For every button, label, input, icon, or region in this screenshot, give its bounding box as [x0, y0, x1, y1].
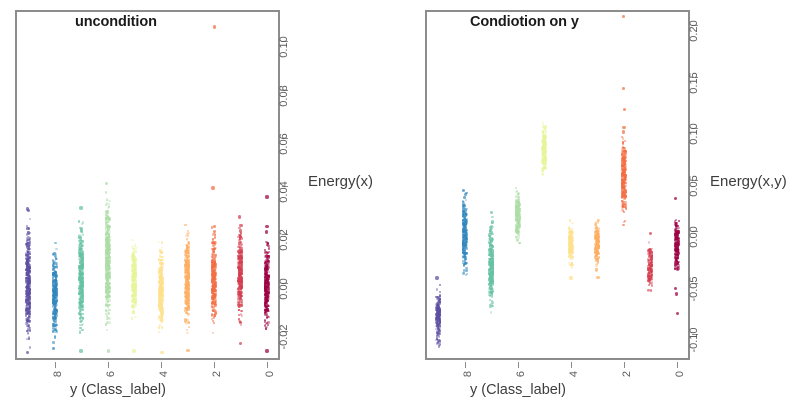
scatter-point	[161, 326, 163, 328]
scatter-point	[135, 276, 137, 278]
scatter-point	[464, 262, 466, 264]
scatter-point	[188, 255, 190, 257]
x-tick-mark	[624, 362, 625, 368]
scatter-point	[108, 290, 110, 292]
scatter-point	[55, 308, 57, 310]
scatter-point	[436, 309, 438, 311]
scatter-point	[29, 237, 31, 239]
x-axis-condition-on-y: 86420	[400, 362, 800, 402]
scatter-point	[134, 316, 136, 318]
scatter-point	[267, 245, 269, 247]
plot-area-condition-on-y[interactable]	[425, 10, 690, 360]
scatter-point	[108, 200, 110, 202]
scatter-point	[241, 247, 243, 249]
scatter-point	[187, 313, 189, 315]
scatter-point	[27, 251, 29, 253]
x-tick-mark	[214, 362, 215, 368]
scatter-point	[78, 235, 80, 237]
x-tick-mark	[55, 362, 56, 368]
scatter-point	[187, 288, 189, 290]
scatter-point	[52, 341, 54, 343]
scatter-point	[108, 205, 110, 207]
scatter-point	[160, 285, 162, 287]
scatter-point	[81, 329, 83, 331]
scatter-point	[134, 258, 136, 260]
scatter-point	[516, 228, 518, 230]
scatter-point	[81, 242, 83, 244]
scatter-outlier-point	[105, 210, 108, 213]
x-tick-mark	[465, 362, 466, 368]
scatter-point	[490, 305, 492, 307]
scatter-point	[134, 293, 136, 295]
scatter-point	[134, 299, 136, 301]
scatter-point	[28, 337, 30, 339]
y-tick-label: 0.02	[278, 230, 290, 251]
x-tick-mark	[571, 362, 572, 368]
scatter-point	[517, 215, 519, 217]
scatter-point	[55, 266, 57, 268]
scatter-point	[161, 269, 163, 271]
scatter-outlier-point	[463, 196, 466, 199]
scatter-point	[188, 303, 190, 305]
scatter-point	[25, 279, 27, 281]
x-axis-caption-uncondition: y (Class_label)	[70, 382, 166, 398]
scatter-point	[465, 214, 467, 216]
scatter-point	[81, 294, 83, 296]
y-tick-label: 0.10	[688, 124, 700, 145]
panel-title-condition-on-y: Condiotion on y	[470, 14, 579, 30]
scatter-point	[29, 327, 31, 329]
scatter-point	[215, 284, 217, 286]
scatter-point	[213, 305, 215, 307]
y-tick-label: -0.05	[688, 276, 700, 301]
scatter-point	[106, 275, 108, 277]
x-axis-caption-condition-on-y: y (Class_label)	[470, 382, 566, 398]
scatter-point	[188, 322, 190, 324]
scatter-point	[462, 240, 464, 242]
scatter-point	[240, 286, 242, 288]
scatter-point	[464, 222, 466, 224]
scatter-point	[462, 244, 464, 246]
y-tick-label: 0.08	[278, 85, 290, 106]
y-tick-label: 0.10	[278, 37, 290, 58]
scatter-point	[158, 327, 160, 329]
y-tick-label: 0.05	[688, 175, 700, 196]
scatter-point	[436, 318, 438, 320]
scatter-point	[491, 295, 493, 297]
scatter-point	[184, 309, 186, 311]
scatter-point	[187, 234, 189, 236]
scatter-point	[268, 247, 270, 249]
scatter-point	[135, 302, 137, 304]
scatter-point	[489, 250, 491, 252]
scatter-point	[132, 289, 134, 291]
scatter-point	[55, 257, 57, 259]
scatter-point	[211, 256, 213, 258]
scatter-point	[108, 299, 110, 301]
scatter-point	[29, 320, 31, 322]
scatter-point	[161, 314, 163, 316]
scatter-point	[132, 286, 134, 288]
scatter-point	[109, 271, 111, 273]
y-tick-label: 0.20	[688, 21, 700, 42]
y-axis-caption-condition-on-y: Energy(x,y)	[710, 173, 787, 190]
scatter-point	[28, 272, 30, 274]
scatter-outlier-point	[79, 206, 82, 209]
y-tick-label: -0.10	[688, 328, 700, 353]
scatter-point	[131, 279, 133, 281]
scatter-point	[162, 256, 164, 258]
scatter-point	[25, 322, 27, 324]
scatter-point	[267, 255, 269, 257]
scatter-point	[241, 255, 243, 257]
x-axis-uncondition: 86420	[0, 362, 400, 402]
scatter-point	[185, 270, 187, 272]
y-tick-label: -0.02	[278, 324, 290, 349]
scatter-point	[186, 329, 188, 331]
y-axis-condition-on-y: 0.200.150.100.050.00-0.05-0.10	[692, 0, 738, 406]
y-axis-caption-uncondition: Energy(x)	[308, 173, 373, 190]
scatter-point	[439, 296, 441, 298]
scatter-point	[53, 252, 55, 254]
x-tick-label: 0	[674, 371, 686, 377]
y-tick-label: 0.04	[278, 181, 290, 202]
scatter-point	[185, 249, 187, 251]
scatter-point	[516, 197, 518, 199]
scatter-point	[186, 319, 188, 321]
scatter-point	[515, 191, 517, 193]
scatter-point	[188, 326, 190, 328]
scatter-outlier-point	[489, 226, 492, 229]
scatter-point	[439, 321, 441, 323]
scatter-outlier-point	[160, 351, 163, 354]
scatter-outlier-point	[265, 349, 268, 352]
scatter-point	[267, 261, 269, 263]
scatter-outlier-point	[213, 230, 216, 233]
scatter-outlier-point	[435, 276, 438, 279]
scatter-point	[213, 282, 215, 284]
scatter-point	[213, 296, 215, 298]
scatter-point	[160, 289, 162, 291]
scatter-outlier-point	[265, 230, 268, 233]
x-tick-label: 8	[462, 371, 474, 377]
scatter-point	[55, 263, 57, 265]
scatter-point	[463, 236, 465, 238]
x-tick-label: 6	[105, 371, 117, 377]
scatter-point	[240, 310, 242, 312]
scatter-outlier-point	[107, 349, 110, 352]
scatter-point	[438, 335, 440, 337]
scatter-point	[264, 282, 266, 284]
scatter-point	[135, 247, 137, 249]
scatter-point	[264, 320, 266, 322]
scatter-point	[241, 261, 243, 263]
scatter-point	[28, 227, 30, 229]
scatter-outlier-point	[265, 195, 268, 198]
scatter-point	[109, 321, 111, 323]
panel-condition-on-y: Condiotion on y 0.200.150.100.050.00-0.0…	[400, 0, 800, 406]
scatter-point	[214, 303, 216, 305]
scatter-point	[54, 242, 56, 244]
scatter-outlier-point	[239, 229, 242, 232]
x-tick-label: 4	[568, 371, 580, 377]
scatter-point	[488, 235, 490, 237]
scatter-point	[462, 272, 464, 274]
scatter-point	[27, 242, 29, 244]
scatter-outlier-point	[491, 220, 494, 223]
scatter-point	[161, 241, 163, 243]
x-tick-mark	[108, 362, 109, 368]
x-tick-label: 2	[211, 371, 223, 377]
scatter-point	[105, 309, 107, 311]
scatter-point	[109, 317, 111, 319]
x-tick-mark	[677, 362, 678, 368]
scatter-point	[266, 299, 268, 301]
scatter-point	[436, 321, 438, 323]
scatter-point	[266, 268, 268, 270]
figure-root: uncondition 0.100.080.060.040.020.00-0.0…	[0, 0, 800, 406]
y-tick-label: 0.15	[688, 72, 700, 93]
scatter-point	[519, 242, 521, 244]
scatter-point	[107, 243, 109, 245]
scatter-point	[241, 243, 243, 245]
x-tick-label: 6	[515, 371, 527, 377]
scatter-point	[80, 313, 82, 315]
scatter-point	[436, 288, 438, 290]
panel-title-uncondition: uncondition	[75, 14, 157, 30]
y-tick-label: 0.00	[688, 227, 700, 248]
scatter-point	[108, 218, 110, 220]
scatter-point	[519, 216, 521, 218]
scatter-point	[55, 291, 57, 293]
scatter-point	[517, 204, 519, 206]
scatter-point	[55, 248, 57, 250]
scatter-point	[237, 297, 239, 299]
scatter-point	[187, 232, 189, 234]
scatter-point	[464, 228, 466, 230]
scatter-point	[436, 325, 438, 327]
scatter-point	[134, 285, 136, 287]
x-tick-label: 2	[621, 371, 633, 377]
scatter-point	[158, 272, 160, 274]
scatter-point	[81, 305, 83, 307]
scatter-point	[214, 241, 216, 243]
scatter-point	[28, 313, 30, 315]
scatter-point	[491, 216, 493, 218]
scatter-point	[463, 204, 465, 206]
scatter-point	[27, 286, 29, 288]
scatter-point	[161, 282, 163, 284]
scatter-point	[79, 282, 81, 284]
y-axis-uncondition: 0.100.080.060.040.020.00-0.02	[282, 0, 328, 406]
scatter-point	[238, 242, 240, 244]
scatter-point	[490, 287, 492, 289]
scatter-point	[107, 293, 109, 295]
scatter-point	[158, 307, 160, 309]
scatter-point	[134, 243, 136, 245]
scatter-point	[239, 267, 241, 269]
x-tick-label: 0	[264, 371, 276, 377]
scatter-point	[188, 283, 190, 285]
scatter-point	[187, 246, 189, 248]
x-tick-mark	[161, 362, 162, 368]
scatter-point	[435, 328, 437, 330]
y-tick-label: 0.00	[278, 278, 290, 299]
scatter-point	[80, 280, 82, 282]
x-tick-label: 8	[52, 371, 64, 377]
scatter-point	[160, 251, 162, 253]
scatter-point	[133, 254, 135, 256]
scatter-point	[80, 231, 82, 233]
scatter-outlier-point	[489, 231, 492, 234]
scatter-point	[55, 324, 57, 326]
scatter-point	[106, 202, 108, 204]
scatter-point	[240, 272, 242, 274]
scatter-point	[465, 267, 467, 269]
scatter-point	[266, 308, 268, 310]
scatter-point	[80, 249, 82, 251]
scatter-point	[29, 280, 31, 282]
scatter-outlier-point	[132, 349, 135, 352]
scatter-point	[239, 304, 241, 306]
x-tick-mark	[518, 362, 519, 368]
scatter-outlier-point	[79, 349, 82, 352]
scatter-point	[28, 316, 30, 318]
scatter-point	[82, 309, 84, 311]
scatter-point	[106, 257, 108, 259]
scatter-point	[159, 292, 161, 294]
scatter-point	[108, 296, 110, 298]
scatter-point	[26, 239, 28, 241]
scatter-point	[266, 316, 268, 318]
scatter-point	[54, 335, 56, 337]
scatter-point	[186, 293, 188, 295]
scatter-outlier-point	[26, 351, 29, 354]
scatter-point	[132, 272, 134, 274]
scatter-point	[240, 257, 242, 259]
scatter-point	[491, 301, 493, 303]
scatter-point	[134, 260, 136, 262]
scatter-point	[462, 219, 464, 221]
scatter-point	[212, 299, 214, 301]
scatter-point	[55, 275, 57, 277]
scatter-point	[465, 269, 467, 271]
scatter-outlier-point	[211, 186, 214, 189]
scatter-point	[135, 288, 137, 290]
scatter-point	[186, 258, 188, 260]
scatter-point	[212, 250, 214, 252]
x-tick-mark	[267, 362, 268, 368]
x-tick-label: 4	[158, 371, 170, 377]
scatter-outlier-point	[186, 349, 189, 352]
panel-uncondition: uncondition 0.100.080.060.040.020.00-0.0…	[0, 0, 400, 406]
scatter-point	[492, 255, 494, 257]
scatter-point	[436, 332, 438, 334]
scatter-point	[241, 282, 243, 284]
scatter-point	[490, 284, 492, 286]
scatter-point	[108, 260, 110, 262]
scatter-point	[213, 268, 215, 270]
scatter-point	[54, 302, 56, 304]
scatter-point	[185, 323, 187, 325]
scatter-outlier-point	[238, 215, 241, 218]
scatter-point	[489, 276, 491, 278]
scatter-point	[438, 339, 440, 341]
scatter-point	[214, 234, 216, 236]
scatter-point	[106, 321, 108, 323]
scatter-point	[105, 191, 107, 193]
scatter-point	[212, 238, 214, 240]
scatter-point	[438, 343, 440, 345]
scatter-point	[517, 222, 519, 224]
scatter-point	[106, 273, 108, 275]
scatter-point	[266, 242, 268, 244]
y-tick-label: 0.06	[278, 133, 290, 154]
scatter-point	[265, 286, 267, 288]
